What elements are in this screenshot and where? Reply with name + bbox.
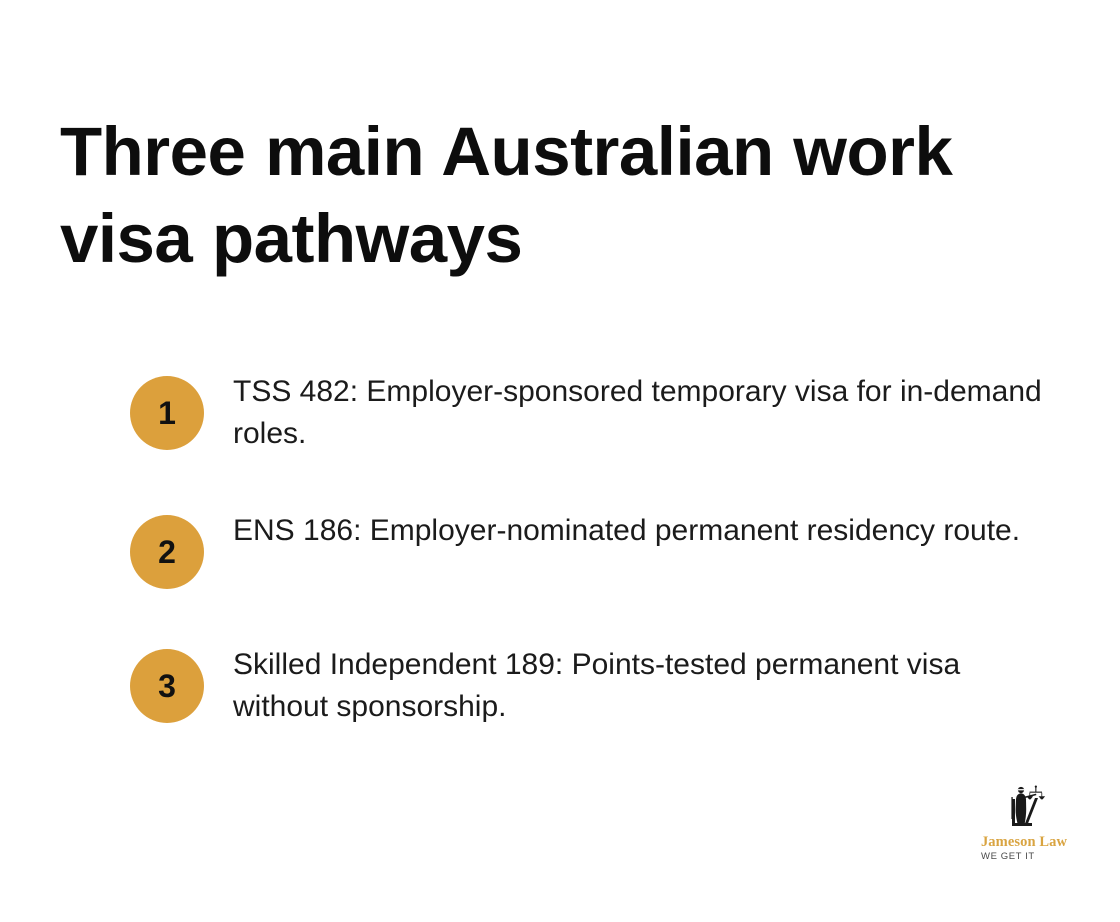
list-item-text: ENS 186: Employer-nominated permanent re… bbox=[233, 507, 1055, 552]
numbered-list: 1 TSS 482: Employer-sponsored temporary … bbox=[130, 368, 1060, 728]
list-number-badge: 3 bbox=[130, 649, 204, 723]
list-number-badge: 2 bbox=[130, 515, 204, 589]
list-number-badge: 1 bbox=[130, 376, 204, 450]
list-number-label: 1 bbox=[158, 397, 176, 429]
slide-canvas: Three main Australian work visa pathways… bbox=[0, 0, 1120, 922]
list-number-label: 2 bbox=[158, 536, 176, 568]
list-item-text: Skilled Independent 189: Points-tested p… bbox=[233, 641, 1055, 728]
list-item: 3 Skilled Independent 189: Points-tested… bbox=[130, 641, 1060, 728]
lady-justice-scales-icon bbox=[998, 783, 1050, 833]
list-item: 1 TSS 482: Employer-sponsored temporary … bbox=[130, 368, 1060, 455]
page-title: Three main Australian work visa pathways bbox=[60, 108, 1020, 282]
list-item: 2 ENS 186: Employer-nominated permanent … bbox=[130, 507, 1060, 589]
brand-logo: Jameson Law WE GET IT bbox=[978, 783, 1070, 862]
list-number-label: 3 bbox=[158, 670, 176, 702]
logo-tagline: WE GET IT bbox=[981, 851, 1035, 862]
title-block: Three main Australian work visa pathways bbox=[60, 108, 1020, 282]
list-item-text: TSS 482: Employer-sponsored temporary vi… bbox=[233, 368, 1055, 455]
logo-wordmark: Jameson Law bbox=[981, 835, 1067, 850]
